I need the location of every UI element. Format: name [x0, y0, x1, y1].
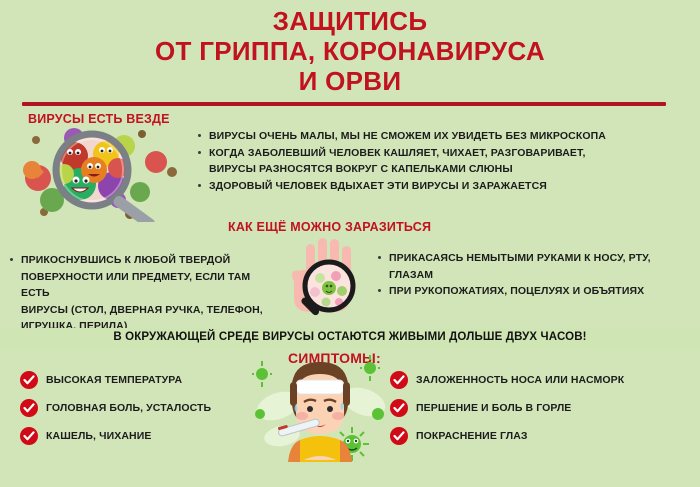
- list-item-line: ВИРУСЫ РАЗНОСЯТСЯ ВОКРУГ С КАПЕЛЬКАМИ СЛ…: [209, 161, 696, 178]
- virus-cluster-illustration: [14, 126, 194, 222]
- list-item-line: ПРИКОСНУВШИСЬ К ЛЮБОЙ ТВЕРДОЙ: [21, 252, 278, 269]
- symptom-label: ПЕРШЕНИЕ И БОЛЬ В ГОРЛЕ: [416, 402, 571, 414]
- check-circle-icon: [20, 427, 38, 445]
- symptom-label: ВЫСОКАЯ ТЕМПЕРАТУРА: [46, 374, 182, 386]
- symptom-label: ПОКРАСНЕНИЕ ГЛАЗ: [416, 430, 528, 442]
- check-circle-icon: [390, 399, 408, 417]
- check-circle-icon: [20, 399, 38, 417]
- list-item: ПРИ РУКОПОЖАТИЯХ, ПОЦЕЛУЯХ И ОБЪЯТИЯХ: [376, 283, 696, 300]
- title-divider: [22, 102, 666, 106]
- bullet-list-hands: ПРИКАСАЯСЬ НЕМЫТЫМИ РУКАМИ К НОСУ, РТУ, …: [376, 250, 696, 300]
- bullet-dot-icon: [198, 134, 201, 137]
- title-line-2: ОТ ГРИППА, КОРОНАВИРУСА: [0, 36, 700, 66]
- page-title: ЗАЩИТИСЬ ОТ ГРИППА, КОРОНАВИРУСА И ОРВИ: [0, 6, 700, 96]
- section-heading-viruses-everywhere: ВИРУСЫ ЕСТЬ ВЕЗДЕ: [28, 112, 170, 126]
- list-item: ЗАЛОЖЕННОСТЬ НОСА ИЛИ НАСМОРК: [390, 366, 624, 394]
- list-item: КАШЕЛЬ, ЧИХАНИЕ: [20, 422, 211, 450]
- list-item: ПРИКАСАЯСЬ НЕМЫТЫМИ РУКАМИ К НОСУ, РТУ, …: [376, 250, 696, 283]
- infographic-poster: ЗАЩИТИСЬ ОТ ГРИППА, КОРОНАВИРУСА И ОРВИ …: [0, 0, 700, 487]
- list-item-line: КОГДА ЗАБОЛЕВШИЙ ЧЕЛОВЕК КАШЛЯЕТ, ЧИХАЕТ…: [209, 145, 696, 162]
- symptom-label: ЗАЛОЖЕННОСТЬ НОСА ИЛИ НАСМОРК: [416, 374, 624, 386]
- list-item: ПЕРШЕНИЕ И БОЛЬ В ГОРЛЕ: [390, 394, 624, 422]
- survival-time-banner: В ОКРУЖАЮЩЕЙ СРЕДЕ ВИРУСЫ ОСТАЮТСЯ ЖИВЫМ…: [0, 328, 700, 350]
- list-item: ПОКРАСНЕНИЕ ГЛАЗ: [390, 422, 624, 450]
- list-item: ГОЛОВНАЯ БОЛЬ, УСТАЛОСТЬ: [20, 394, 211, 422]
- bullet-list-surfaces: ПРИКОСНУВШИСЬ К ЛЮБОЙ ТВЕРДОЙ ПОВЕРХНОСТ…: [8, 252, 278, 335]
- bullet-dot-icon: [378, 256, 381, 259]
- title-line-1: ЗАЩИТИСЬ: [0, 6, 700, 36]
- list-item: КОГДА ЗАБОЛЕВШИЙ ЧЕЛОВЕК КАШЛЯЕТ, ЧИХАЕТ…: [196, 145, 696, 178]
- list-item-line: ПРИ РУКОПОЖАТИЯХ, ПОЦЕЛУЯХ И ОБЪЯТИЯХ: [389, 283, 696, 300]
- symptom-label: ГОЛОВНАЯ БОЛЬ, УСТАЛОСТЬ: [46, 402, 211, 414]
- symptom-list-left: ВЫСОКАЯ ТЕМПЕРАТУРА ГОЛОВНАЯ БОЛЬ, УСТАЛ…: [20, 366, 211, 450]
- bullet-dot-icon: [378, 289, 381, 292]
- list-item: ВИРУСЫ ОЧЕНЬ МАЛЫ, МЫ НЕ СМОЖЕМ ИХ УВИДЕ…: [196, 128, 696, 145]
- sick-child-illustration: [252, 352, 388, 464]
- list-item-line: ГЛАЗАМ: [389, 267, 696, 284]
- check-circle-icon: [390, 427, 408, 445]
- hand-magnifier-icon: [282, 236, 378, 324]
- check-circle-icon: [390, 371, 408, 389]
- list-item-line: ПОВЕРХНОСТИ ИЛИ ПРЕДМЕТУ, ЕСЛИ ТАМ ЕСТЬ: [21, 269, 278, 302]
- symptom-list-right: ЗАЛОЖЕННОСТЬ НОСА ИЛИ НАСМОРК ПЕРШЕНИЕ И…: [390, 366, 624, 450]
- bullet-dot-icon: [198, 151, 201, 154]
- magnifier-virus-icon: [14, 126, 194, 222]
- symptom-label: КАШЕЛЬ, ЧИХАНИЕ: [46, 430, 151, 442]
- list-item-line: ПРИКАСАЯСЬ НЕМЫТЫМИ РУКАМИ К НОСУ, РТУ,: [389, 250, 696, 267]
- list-item-line: ЗДОРОВЫЙ ЧЕЛОВЕК ВДЫХАЕТ ЭТИ ВИРУСЫ И ЗА…: [209, 178, 696, 195]
- check-circle-icon: [20, 371, 38, 389]
- list-item-line: ВИРУСЫ ОЧЕНЬ МАЛЫ, МЫ НЕ СМОЖЕМ ИХ УВИДЕ…: [209, 128, 696, 145]
- list-item: ПРИКОСНУВШИСЬ К ЛЮБОЙ ТВЕРДОЙ ПОВЕРХНОСТ…: [8, 252, 278, 335]
- hand-germs-illustration: [282, 236, 378, 324]
- list-item: ЗДОРОВЫЙ ЧЕЛОВЕК ВДЫХАЕТ ЭТИ ВИРУСЫ И ЗА…: [196, 178, 696, 195]
- banner-text: В ОКРУЖАЮЩЕЙ СРЕДЕ ВИРУСЫ ОСТАЮТСЯ ЖИВЫМ…: [0, 331, 700, 343]
- list-item: ВЫСОКАЯ ТЕМПЕРАТУРА: [20, 366, 211, 394]
- section-heading-how-else: КАК ЕЩЁ МОЖНО ЗАРАЗИТЬСЯ: [228, 220, 431, 234]
- sick-child-icon: [252, 352, 388, 464]
- bullet-list-viruses-everywhere: ВИРУСЫ ОЧЕНЬ МАЛЫ, МЫ НЕ СМОЖЕМ ИХ УВИДЕ…: [196, 128, 696, 194]
- bullet-dot-icon: [10, 258, 13, 261]
- title-line-3: И ОРВИ: [0, 66, 700, 96]
- bullet-dot-icon: [198, 184, 201, 187]
- list-item-line: ВИРУСЫ (СТОЛ, ДВЕРНАЯ РУЧКА, ТЕЛЕФОН,: [21, 302, 278, 319]
